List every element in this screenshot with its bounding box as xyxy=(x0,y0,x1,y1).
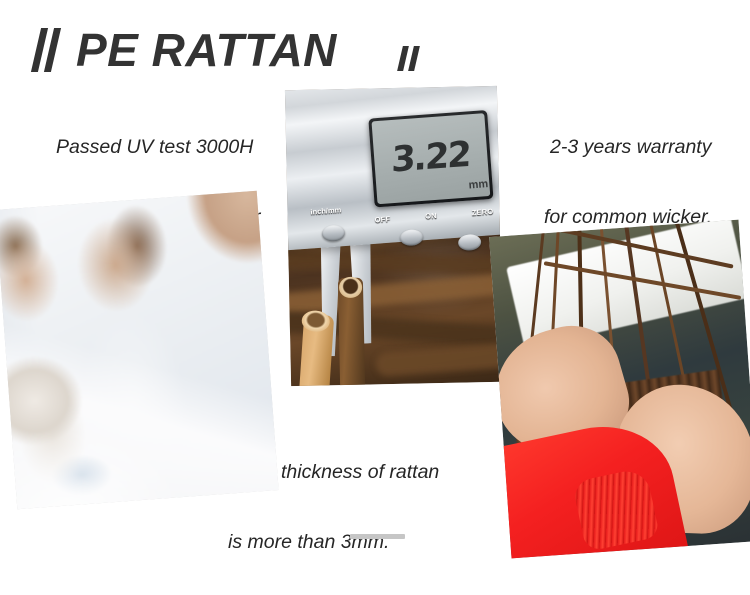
caliper-lcd-unit: mm xyxy=(468,178,488,191)
caliper-label-zero: ZERO xyxy=(471,207,493,218)
caliper-label-on: ON xyxy=(425,211,437,221)
hand-weaving-photo xyxy=(489,220,750,559)
title-leading-slash-icon xyxy=(36,28,70,72)
caliper-measurement-photo: 3.22 mm inch/mm OFF ON ZERO xyxy=(285,86,503,386)
title-trailing-slash-icon xyxy=(400,46,426,71)
page-title: PE RATTAN xyxy=(76,24,337,76)
caliper-lcd-screen: 3.22 mm xyxy=(371,113,489,204)
rattan-tube-measured-bore xyxy=(339,277,363,298)
caption-thickness-line-2: is more than 3mm. xyxy=(228,525,488,560)
caliper-lcd-value: 3.22 xyxy=(391,138,470,179)
caption-uv-test-line-1: Passed UV test 3000H xyxy=(48,130,298,165)
uv-test-lab-photo xyxy=(0,191,279,509)
caption-warranty-line-1: 2-3 years warranty xyxy=(540,130,750,165)
header-banner: PE RATTAN xyxy=(0,0,750,92)
uv-test-lab-photo-content xyxy=(0,191,279,509)
scroll-indicator-bar xyxy=(350,534,405,539)
rattan-tube-secondary-bore xyxy=(301,309,330,331)
caliper-label-off: OFF xyxy=(374,215,390,225)
caliper-display-bezel: 3.22 mm xyxy=(368,110,493,207)
